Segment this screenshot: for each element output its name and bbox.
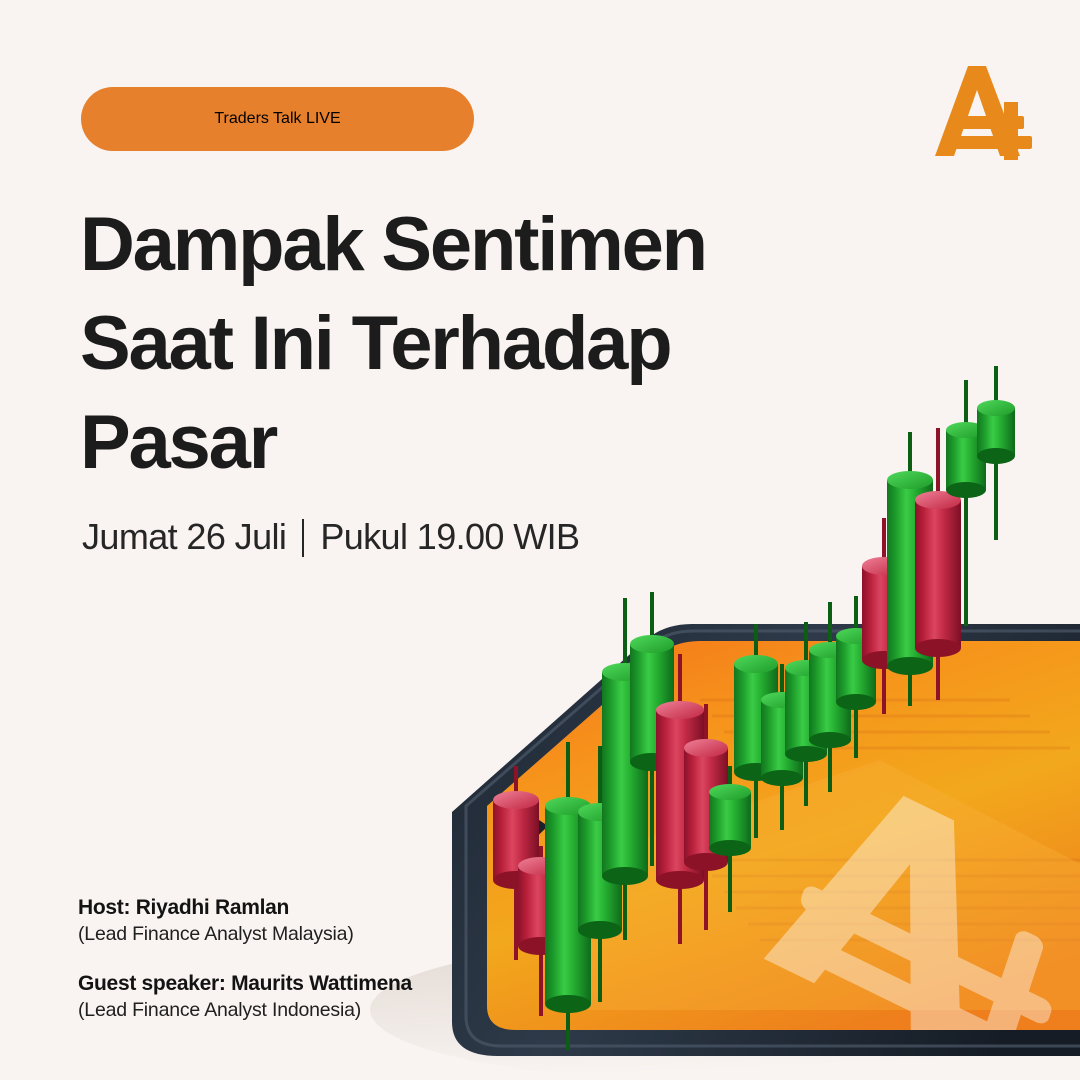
- poster-canvas: Traders Talk LIVE Dampak Sentimen Saat I…: [0, 0, 1080, 1080]
- phone-screen: [487, 641, 1080, 1030]
- phone-body: [452, 624, 1080, 1056]
- headline-line-1: Dampak Sentimen: [80, 196, 800, 295]
- screen-contents: [520, 700, 1080, 1080]
- phone-bezel-highlight: [466, 631, 1080, 1046]
- page-title: Dampak Sentimen Saat Ini Terhadap Pasar: [80, 196, 800, 492]
- phone-side-button: [494, 818, 548, 866]
- live-badge[interactable]: Traders Talk LIVE: [81, 87, 474, 151]
- credit-guest: Guest speaker: Maurits Wattimena (Lead F…: [78, 972, 412, 1022]
- live-badge-label: Traders Talk LIVE: [214, 110, 340, 128]
- credit-guest-name: Guest speaker: Maurits Wattimena: [78, 972, 412, 996]
- credit-host-name: Host: Riyadhi Ramlan: [78, 896, 412, 920]
- credits-block: Host: Riyadhi Ramlan (Lead Finance Analy…: [78, 896, 412, 1022]
- schedule-time: Pukul 19.00 WIB: [320, 516, 579, 558]
- credit-host-role: (Lead Finance Analyst Malaysia): [78, 923, 412, 946]
- credit-host: Host: Riyadhi Ramlan (Lead Finance Analy…: [78, 896, 412, 946]
- schedule-line: Jumat 26 Juli Pukul 19.00 WIB: [82, 516, 579, 558]
- brand-a-logo-icon: [934, 62, 1038, 160]
- credit-guest-role: (Lead Finance Analyst Indonesia): [78, 999, 412, 1022]
- schedule-separator: [302, 519, 304, 557]
- headline-line-3: Pasar: [80, 394, 800, 493]
- schedule-date: Jumat 26 Juli: [82, 516, 286, 558]
- headline-line-2: Saat Ini Terhadap: [80, 295, 800, 394]
